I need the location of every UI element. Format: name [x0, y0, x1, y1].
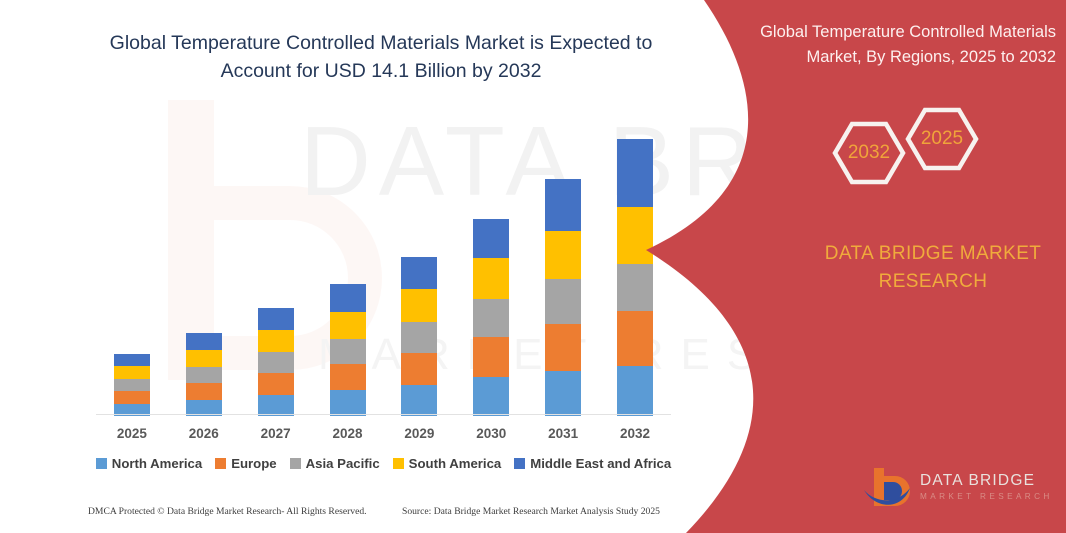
bar-segment-south-america	[114, 366, 150, 379]
bar-segment-south-america	[401, 289, 437, 322]
bar-segment-south-america	[258, 330, 294, 352]
legend-label: Europe	[231, 456, 276, 471]
hexagon-2025-label: 2025	[920, 128, 964, 150]
bar-segment-europe	[258, 373, 294, 395]
bar-2025	[114, 354, 150, 416]
bar-segment-north-america	[473, 377, 509, 416]
x-label-2028: 2028	[313, 426, 383, 441]
infographic-canvas: DATA BRIDGE MARKET RESEARCH Global Tempe…	[0, 0, 1066, 533]
dbmr-logo: DATA BRIDGE MARKET RESEARCH	[862, 466, 1052, 516]
hexagon-2032-label: 2032	[847, 142, 891, 164]
legend-label: Asia Pacific	[306, 456, 380, 471]
legend-swatch-icon	[514, 458, 525, 469]
legend-swatch-icon	[96, 458, 107, 469]
bar-segment-asia-pacific	[258, 352, 294, 373]
brand-name: DATA BRIDGE MARKET RESEARCH	[800, 240, 1066, 295]
logo-title: DATA BRIDGE	[920, 472, 1035, 490]
bar-2028	[330, 284, 366, 416]
bar-2029	[401, 257, 437, 416]
bar-2030	[473, 219, 509, 416]
x-label-2029: 2029	[384, 426, 454, 441]
page-title: Global Temperature Controlled Materials …	[86, 30, 676, 85]
legend-swatch-icon	[290, 458, 301, 469]
legend-item-north-america[interactable]: North America	[96, 456, 202, 471]
bar-segment-asia-pacific	[545, 279, 581, 324]
legend-label: South America	[409, 456, 502, 471]
right-panel-heading: Global Temperature Controlled Materials …	[740, 20, 1056, 70]
legend-swatch-icon	[215, 458, 226, 469]
chart-x-axis-labels: 20252026202720282029203020312032	[96, 426, 671, 448]
bar-segment-asia-pacific	[330, 339, 366, 364]
footer-source: Source: Data Bridge Market Research Mark…	[402, 506, 660, 517]
bar-segment-europe	[401, 353, 437, 385]
bar-segment-middle-east-and-africa	[545, 179, 581, 231]
bar-segment-europe	[473, 337, 509, 377]
x-label-2027: 2027	[241, 426, 311, 441]
bar-segment-north-america	[545, 371, 581, 416]
bar-segment-europe	[114, 391, 150, 404]
chart-legend: North AmericaEuropeAsia PacificSouth Ame…	[96, 456, 671, 471]
bar-segment-asia-pacific	[114, 379, 150, 391]
legend-item-south-america[interactable]: South America	[393, 456, 502, 471]
brand-line-1: DATA BRIDGE MARKET	[800, 240, 1066, 268]
bar-segment-middle-east-and-africa	[473, 219, 509, 258]
bar-segment-asia-pacific	[401, 322, 437, 353]
bar-segment-south-america	[545, 231, 581, 279]
bar-segment-europe	[330, 364, 366, 390]
bar-segment-middle-east-and-africa	[401, 257, 437, 289]
bar-segment-middle-east-and-africa	[330, 284, 366, 312]
bar-segment-asia-pacific	[473, 299, 509, 337]
x-label-2026: 2026	[169, 426, 239, 441]
hexagon-group: 2032 2025	[820, 98, 1000, 208]
stacked-bar-chart	[96, 120, 671, 416]
x-label-2030: 2030	[456, 426, 526, 441]
footer-copyright: DMCA Protected © Data Bridge Market Rese…	[88, 506, 367, 517]
x-label-2025: 2025	[97, 426, 167, 441]
bar-segment-middle-east-and-africa	[186, 333, 222, 350]
bar-segment-middle-east-and-africa	[258, 308, 294, 330]
bar-2027	[258, 308, 294, 416]
bar-segment-south-america	[330, 312, 366, 339]
footer: DMCA Protected © Data Bridge Market Rese…	[0, 506, 700, 526]
bar-segment-north-america	[258, 395, 294, 416]
x-label-2031: 2031	[528, 426, 598, 441]
bar-segment-south-america	[186, 350, 222, 367]
bar-segment-south-america	[473, 258, 509, 299]
legend-label: North America	[112, 456, 202, 471]
legend-swatch-icon	[393, 458, 404, 469]
logo-mark-icon	[862, 466, 914, 512]
bar-segment-europe	[545, 324, 581, 371]
bar-segment-north-america	[330, 390, 366, 416]
chart-baseline	[96, 414, 671, 415]
logo-subtitle: MARKET RESEARCH	[920, 492, 1053, 501]
bar-2026	[186, 333, 222, 416]
bar-segment-asia-pacific	[186, 367, 222, 383]
bar-segment-europe	[186, 383, 222, 400]
bar-2031	[545, 179, 581, 416]
brand-line-2: RESEARCH	[800, 268, 1066, 296]
bar-segment-middle-east-and-africa	[114, 354, 150, 366]
bar-segment-north-america	[401, 385, 437, 416]
legend-item-europe[interactable]: Europe	[215, 456, 276, 471]
legend-item-asia-pacific[interactable]: Asia Pacific	[290, 456, 380, 471]
